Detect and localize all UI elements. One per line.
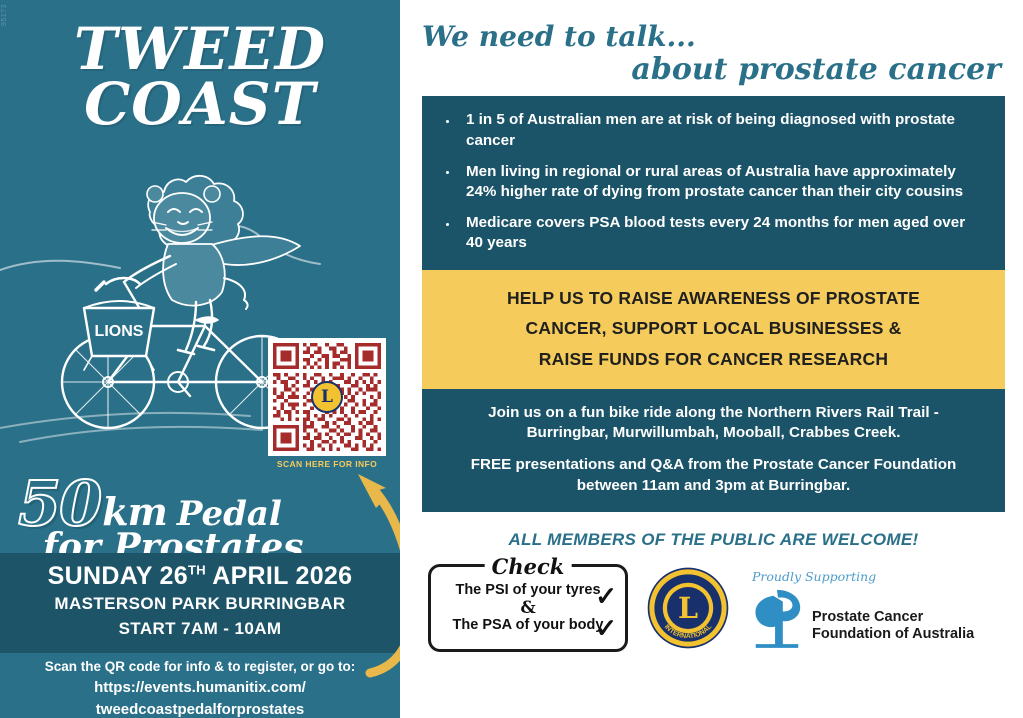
headline-pedal: Pedal bbox=[177, 499, 282, 530]
facts-panel: 1 in 5 of Australian men are at risk of … bbox=[422, 96, 1005, 269]
bullet-icon bbox=[446, 171, 449, 174]
pcfa-logo-block: Proudly Supporting Prostate Cancer Found… bbox=[748, 569, 974, 648]
registration-url-line-2[interactable]: tweedcoastpedalforprostates bbox=[0, 699, 400, 718]
check-logo-ampersand: & bbox=[520, 599, 535, 618]
list-item: Men living in regional or rural areas of… bbox=[440, 162, 983, 202]
pcfa-name-line-1: Prostate Cancer bbox=[812, 609, 974, 626]
event-date: SUNDAY 26TH APRIL 2026 bbox=[0, 561, 400, 592]
lions-logo-qr-center: L bbox=[311, 381, 343, 413]
event-details-panel: Join us on a fun bike ride along the Nor… bbox=[422, 389, 1005, 512]
check-logo-line-2: The PSA of your body bbox=[453, 617, 604, 634]
right-panel: We need to talk... about prostate cancer… bbox=[400, 0, 1023, 718]
fact-text: Men living in regional or rural areas of… bbox=[466, 163, 963, 200]
cta-line-3: RAISE FUNDS FOR CANCER RESEARCH bbox=[432, 344, 995, 375]
qr-caption: SCAN HERE FOR INFO bbox=[268, 459, 386, 469]
basket-label: LIONS bbox=[95, 323, 144, 340]
event-date-ordinal: TH bbox=[188, 563, 206, 578]
fact-text: 1 in 5 of Australian men are at risk of … bbox=[466, 111, 955, 148]
qr-code[interactable]: L bbox=[268, 338, 386, 456]
ribbon-icon bbox=[748, 586, 806, 648]
checkmark-icon: ✓ bbox=[595, 615, 617, 641]
logo-row: Check The PSI of your tyres & The PSA of… bbox=[422, 564, 1005, 652]
check-logo-line-1: The PSI of your tyres bbox=[455, 582, 600, 599]
cta-line-1: HELP US TO RAISE AWARENESS OF PROSTATE bbox=[432, 283, 995, 314]
bullet-icon bbox=[446, 120, 449, 123]
headline-line-1: We need to talk... bbox=[422, 22, 1005, 53]
proudly-supporting-label: Proudly Supporting bbox=[748, 569, 974, 584]
presentations-description: FREE presentations and Q&A from the Pros… bbox=[448, 455, 979, 496]
ride-description: Join us on a fun bike ride along the Nor… bbox=[448, 403, 979, 444]
registration-instruction: Scan the QR code for info & to register,… bbox=[0, 657, 400, 677]
lions-international-logo: L LIONS INTERNATIONAL bbox=[646, 566, 730, 650]
cta-line-2: CANCER, SUPPORT LOCAL BUSINESSES & bbox=[432, 313, 995, 344]
call-to-action-banner: HELP US TO RAISE AWARENESS OF PROSTATE C… bbox=[422, 270, 1005, 389]
distance-unit: km bbox=[102, 495, 167, 529]
event-venue: MASTERSON PARK BURRINGBAR bbox=[0, 592, 400, 617]
event-date-main: SUNDAY 26 bbox=[48, 562, 188, 590]
registration-block: Scan the QR code for info & to register,… bbox=[0, 653, 400, 718]
brand-line-2: COAST bbox=[0, 77, 400, 132]
check-logo-title: Check bbox=[485, 554, 572, 579]
registration-url-line-1[interactable]: https://events.humanitix.com/ bbox=[0, 677, 400, 699]
bullet-icon bbox=[446, 223, 449, 226]
distance-number: 50 bbox=[18, 478, 100, 531]
event-brand-title: TWEED COAST bbox=[0, 22, 400, 132]
pcfa-name: Prostate Cancer Foundation of Australia bbox=[812, 609, 974, 647]
checkmark-icon: ✓ bbox=[595, 583, 617, 609]
facts-list: 1 in 5 of Australian men are at risk of … bbox=[440, 110, 983, 253]
poster: 95173 TWEED COAST bbox=[0, 0, 1023, 718]
check-psi-psa-logo: Check The PSI of your tyres & The PSA of… bbox=[428, 564, 628, 652]
headline-line-2: about prostate cancer bbox=[422, 53, 1005, 87]
fact-text: Medicare covers PSA blood tests every 24… bbox=[466, 214, 965, 251]
event-date-band: SUNDAY 26TH APRIL 2026 MASTERSON PARK BU… bbox=[0, 553, 400, 653]
lions-letter: L bbox=[678, 591, 698, 625]
event-start-time: START 7AM - 10AM bbox=[0, 617, 400, 642]
list-item: 1 in 5 of Australian men are at risk of … bbox=[440, 110, 983, 150]
list-item: Medicare covers PSA blood tests every 24… bbox=[440, 213, 983, 253]
left-panel: 95173 TWEED COAST bbox=[0, 0, 400, 718]
pcfa-name-line-2: Foundation of Australia bbox=[812, 626, 974, 643]
right-headline: We need to talk... about prostate cancer bbox=[422, 0, 1005, 86]
qr-code-block[interactable]: L SCAN HERE FOR INFO bbox=[268, 338, 386, 469]
event-date-rest: APRIL 2026 bbox=[206, 562, 352, 590]
